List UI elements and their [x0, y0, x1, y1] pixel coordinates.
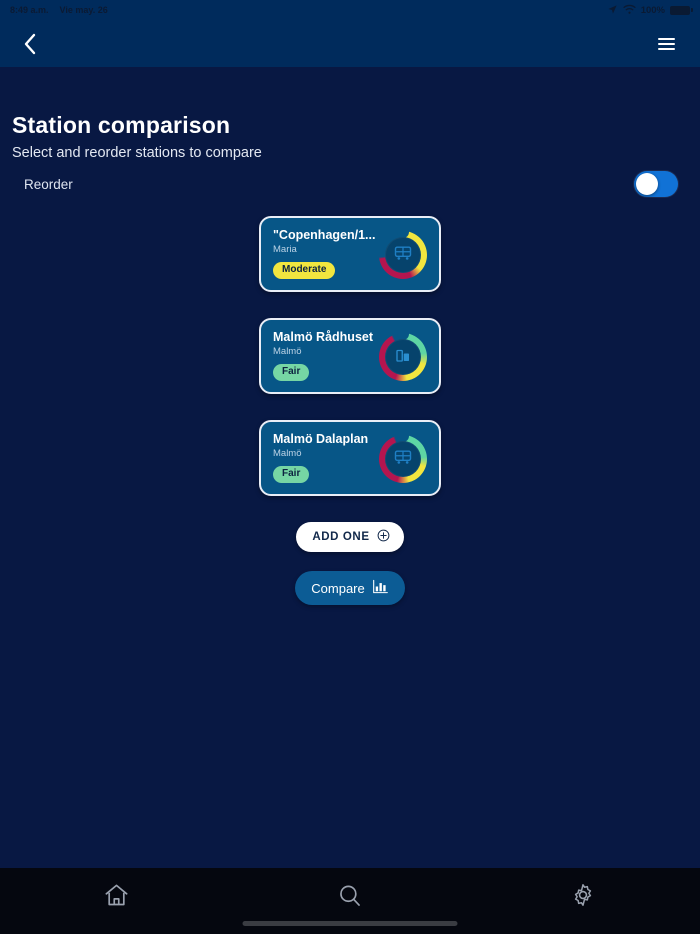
- station-title: Malmö Dalaplan: [273, 432, 393, 447]
- compare-button[interactable]: Compare: [295, 571, 404, 605]
- back-chevron-icon[interactable]: [16, 30, 44, 58]
- ring-center: [385, 237, 421, 273]
- home-indicator: [243, 921, 458, 926]
- status-bar-right: 100%: [607, 4, 690, 17]
- home-icon: [103, 882, 130, 914]
- bar-chart-icon: [372, 579, 389, 597]
- station-card[interactable]: "Copenhagen/1... Maria Moderate: [259, 216, 441, 292]
- status-bar-left: 8:49 a.m. Vie may. 26: [10, 5, 108, 15]
- ring-center: [385, 441, 421, 477]
- app-screen: 8:49 a.m. Vie may. 26 100%: [0, 0, 700, 934]
- buildings-icon: [394, 346, 412, 369]
- station-card-text: Malmö Dalaplan Malmö Fair: [273, 432, 393, 483]
- nav-item-settings[interactable]: [467, 882, 700, 913]
- nav-item-search[interactable]: [233, 882, 466, 914]
- station-card-text: "Copenhagen/1... Maria Moderate: [273, 228, 393, 279]
- search-icon: [336, 882, 363, 914]
- reorder-label: Reorder: [24, 177, 73, 192]
- station-status-ring: [379, 231, 427, 279]
- add-one-label: ADD ONE: [312, 531, 369, 543]
- add-one-button[interactable]: ADD ONE: [296, 522, 403, 552]
- status-date: Vie may. 26: [60, 5, 108, 15]
- hamburger-menu-icon[interactable]: [658, 31, 684, 57]
- station-card[interactable]: Malmö Rådhuset Malmö Fair: [259, 318, 441, 394]
- bus-icon: [393, 243, 413, 268]
- station-card-text: Malmö Rådhuset Malmö Fair: [273, 330, 393, 381]
- nav-item-home[interactable]: [0, 882, 233, 914]
- station-status-ring: [379, 435, 427, 483]
- gear-icon: [570, 882, 596, 913]
- status-time: 8:49 a.m.: [10, 5, 49, 15]
- toggle-knob: [636, 173, 658, 195]
- station-subtitle: Malmö: [273, 448, 393, 460]
- status-bar: 8:49 a.m. Vie may. 26 100%: [0, 0, 700, 20]
- battery-icon: [670, 6, 690, 15]
- add-one-row: ADD ONE: [0, 522, 700, 552]
- reorder-row: Reorder: [0, 168, 700, 200]
- status-badge: Moderate: [273, 262, 335, 279]
- location-arrow-icon: [607, 4, 618, 17]
- page-subtitle: Select and reorder stations to compare: [12, 145, 262, 161]
- station-status-ring: [379, 333, 427, 381]
- compare-label: Compare: [311, 581, 364, 596]
- reorder-toggle[interactable]: [634, 171, 678, 197]
- bus-icon: [393, 447, 413, 472]
- station-card[interactable]: Malmö Dalaplan Malmö Fair: [259, 420, 441, 496]
- plus-circle-icon: [377, 529, 390, 545]
- wifi-icon: [623, 4, 636, 17]
- station-subtitle: Malmö: [273, 346, 393, 358]
- app-bar: [0, 20, 700, 67]
- ring-center: [385, 339, 421, 375]
- status-badge: Fair: [273, 466, 309, 483]
- station-title: Malmö Rådhuset: [273, 330, 393, 345]
- battery-percent: 100%: [641, 5, 665, 16]
- page-title: Station comparison: [12, 112, 230, 139]
- station-title: "Copenhagen/1...: [273, 228, 393, 243]
- station-subtitle: Maria: [273, 244, 393, 256]
- station-card-list: "Copenhagen/1... Maria Moderate: [0, 216, 700, 605]
- compare-row: Compare: [0, 552, 700, 605]
- bottom-nav-bar: [0, 868, 700, 934]
- status-badge: Fair: [273, 364, 309, 381]
